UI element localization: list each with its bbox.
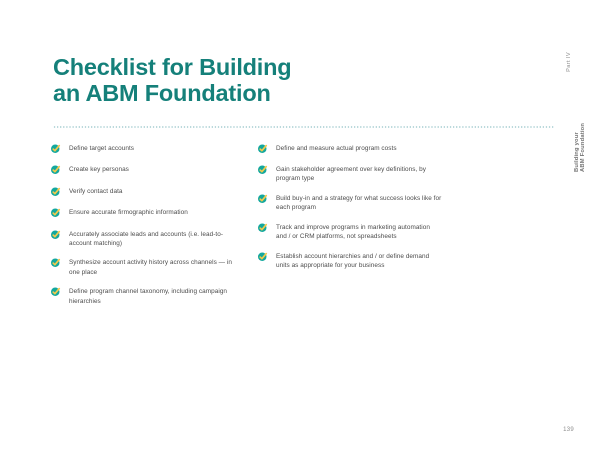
check-circle-icon [257,143,269,155]
list-item-label: Ensure accurate firmographic information [69,207,188,218]
list-item-label: Define target accounts [69,142,134,153]
check-circle-icon [257,222,269,234]
checklist-right-column: Define and measure actual program costs … [257,142,442,315]
list-item: Create key personas [50,164,235,177]
list-item-label: Track and improve programs in marketing … [276,221,442,241]
list-item: Define program channel taxonomy, includi… [50,286,235,306]
check-circle-icon [257,251,269,263]
list-item-label: Gain stakeholder agreement over key defi… [276,164,442,184]
list-item-label: Define program channel taxonomy, includi… [69,286,235,306]
check-circle-icon [257,193,269,205]
check-circle-icon [50,143,62,155]
page-canvas: Checklist for Building an ABM Foundation… [0,0,600,463]
list-item: Gain stakeholder agreement over key defi… [257,164,442,184]
running-head-section: Building your ABM Foundation [574,52,586,172]
check-circle-icon [50,164,62,176]
page-title-line-1: Checklist for Building [53,54,353,80]
list-item: Build buy-in and a strategy for what suc… [257,192,442,212]
page-number: 139 [563,427,574,433]
running-head-section-line-2: ABM Foundation [580,52,586,172]
check-circle-icon [50,207,62,219]
list-item: Ensure accurate firmographic information [50,207,235,220]
list-item: Accurately associate leads and accounts … [50,228,235,248]
list-item-label: Build buy-in and a strategy for what suc… [276,192,442,212]
list-item-label: Define and measure actual program costs [276,142,397,153]
list-item: Verify contact data [50,185,235,198]
check-circle-icon [257,164,269,176]
list-item-label: Synthesize account activity history acro… [69,257,235,277]
dotted-divider [53,126,555,128]
check-circle-icon [50,229,62,241]
list-item: Track and improve programs in marketing … [257,221,442,241]
page-title: Checklist for Building an ABM Foundation [53,54,353,106]
list-item: Synthesize account activity history acro… [50,257,235,277]
running-head-part: Part IV [566,52,572,72]
list-item-label: Verify contact data [69,185,123,196]
running-head: Part IV Building your ABM Foundation [566,52,586,172]
list-item-label: Establish account hierarchies and / or d… [276,250,442,270]
check-circle-icon [50,286,62,298]
list-item: Define target accounts [50,142,235,155]
checklist-columns: Define target accounts Create key person… [50,142,470,315]
list-item: Establish account hierarchies and / or d… [257,250,442,270]
list-item: Define and measure actual program costs [257,142,442,155]
list-item-label: Create key personas [69,164,129,175]
checklist-left-column: Define target accounts Create key person… [50,142,235,315]
list-item-label: Accurately associate leads and accounts … [69,228,235,248]
page-title-line-2: an ABM Foundation [53,80,353,106]
check-circle-icon [50,257,62,269]
check-circle-icon [50,186,62,198]
